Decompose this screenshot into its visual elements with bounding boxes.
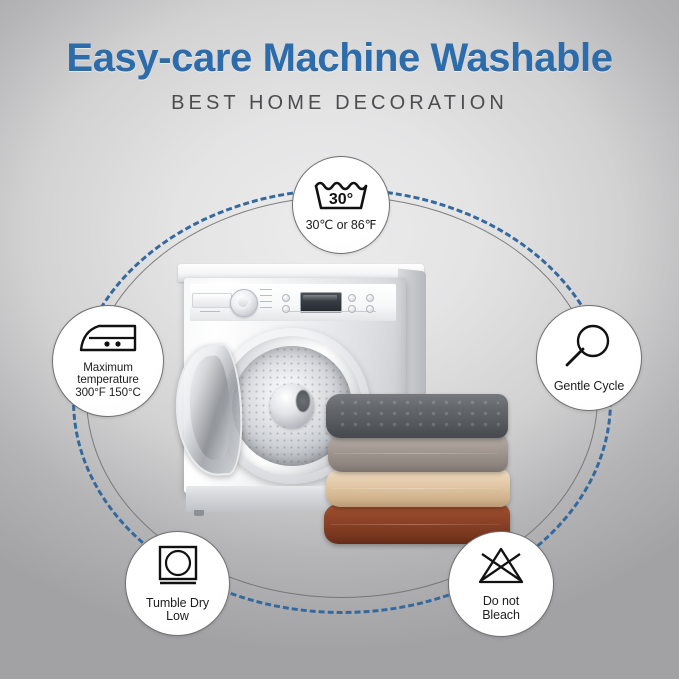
panel-button xyxy=(366,305,374,313)
panel-button xyxy=(366,294,374,302)
badge-label: Do not Bleach xyxy=(482,595,520,622)
badge-label-line: 30℃ or 86℉ xyxy=(306,219,377,233)
list-item xyxy=(326,469,510,507)
panel-tick xyxy=(260,295,272,296)
drum-hub-shadow xyxy=(296,390,310,412)
panel-tick xyxy=(260,289,272,290)
panel-button xyxy=(348,305,356,313)
tumble-dry-low-icon xyxy=(155,544,201,593)
badge-label-line: Low xyxy=(146,610,209,624)
blanket-stack xyxy=(326,394,516,529)
washer-foot xyxy=(194,510,204,516)
header: Easy-care Machine Washable BEST HOME DEC… xyxy=(0,0,679,115)
product-photo xyxy=(170,250,520,540)
badge-label: Tumble Dry Low xyxy=(146,597,209,624)
list-item xyxy=(326,394,508,438)
infographic-canvas: Easy-care Machine Washable BEST HOME DEC… xyxy=(0,0,679,679)
badge-label-line: Gentle Cycle xyxy=(554,380,624,394)
badge-label-line: Bleach xyxy=(482,609,520,623)
badge-label-line: temperature xyxy=(75,374,141,387)
panel-button xyxy=(348,294,356,302)
panel-tick xyxy=(260,301,272,302)
wash-temp-value: 30° xyxy=(329,191,353,208)
panel-button xyxy=(282,294,290,302)
wash-tub-30-icon: 30° xyxy=(313,178,369,215)
badge-label-line: Do not xyxy=(482,595,520,609)
iron-two-dots-icon xyxy=(77,323,139,358)
badge-do-not-bleach[interactable]: Do not Bleach xyxy=(448,531,554,637)
page-subtitle: BEST HOME DECORATION xyxy=(0,81,679,115)
badge-wash-30[interactable]: 30° 30℃ or 86℉ xyxy=(292,156,390,254)
do-not-bleach-icon xyxy=(476,546,526,591)
gentle-cycle-icon xyxy=(561,323,617,376)
badge-iron-max-temperature[interactable]: Maximum temperature 300°F 150°C xyxy=(52,305,164,417)
badge-label: Gentle Cycle xyxy=(554,380,624,394)
panel-tick xyxy=(288,311,376,312)
panel-tick xyxy=(200,311,220,312)
program-dial-knob xyxy=(238,297,248,307)
badge-gentle-cycle[interactable]: Gentle Cycle xyxy=(536,305,642,411)
badge-label: 30℃ or 86℉ xyxy=(306,219,377,233)
display-glare xyxy=(303,295,337,301)
panel-tick xyxy=(260,307,272,308)
panel-button xyxy=(282,305,290,313)
badge-label-line: 300°F 150°C xyxy=(75,387,141,400)
detergent-drawer xyxy=(192,293,232,308)
badge-label: Maximum temperature 300°F 150°C xyxy=(75,362,141,400)
badge-tumble-dry-low[interactable]: Tumble Dry Low xyxy=(125,531,230,636)
badge-label-line: Tumble Dry xyxy=(146,597,209,611)
list-item xyxy=(328,434,508,472)
page-title: Easy-care Machine Washable xyxy=(0,0,679,81)
